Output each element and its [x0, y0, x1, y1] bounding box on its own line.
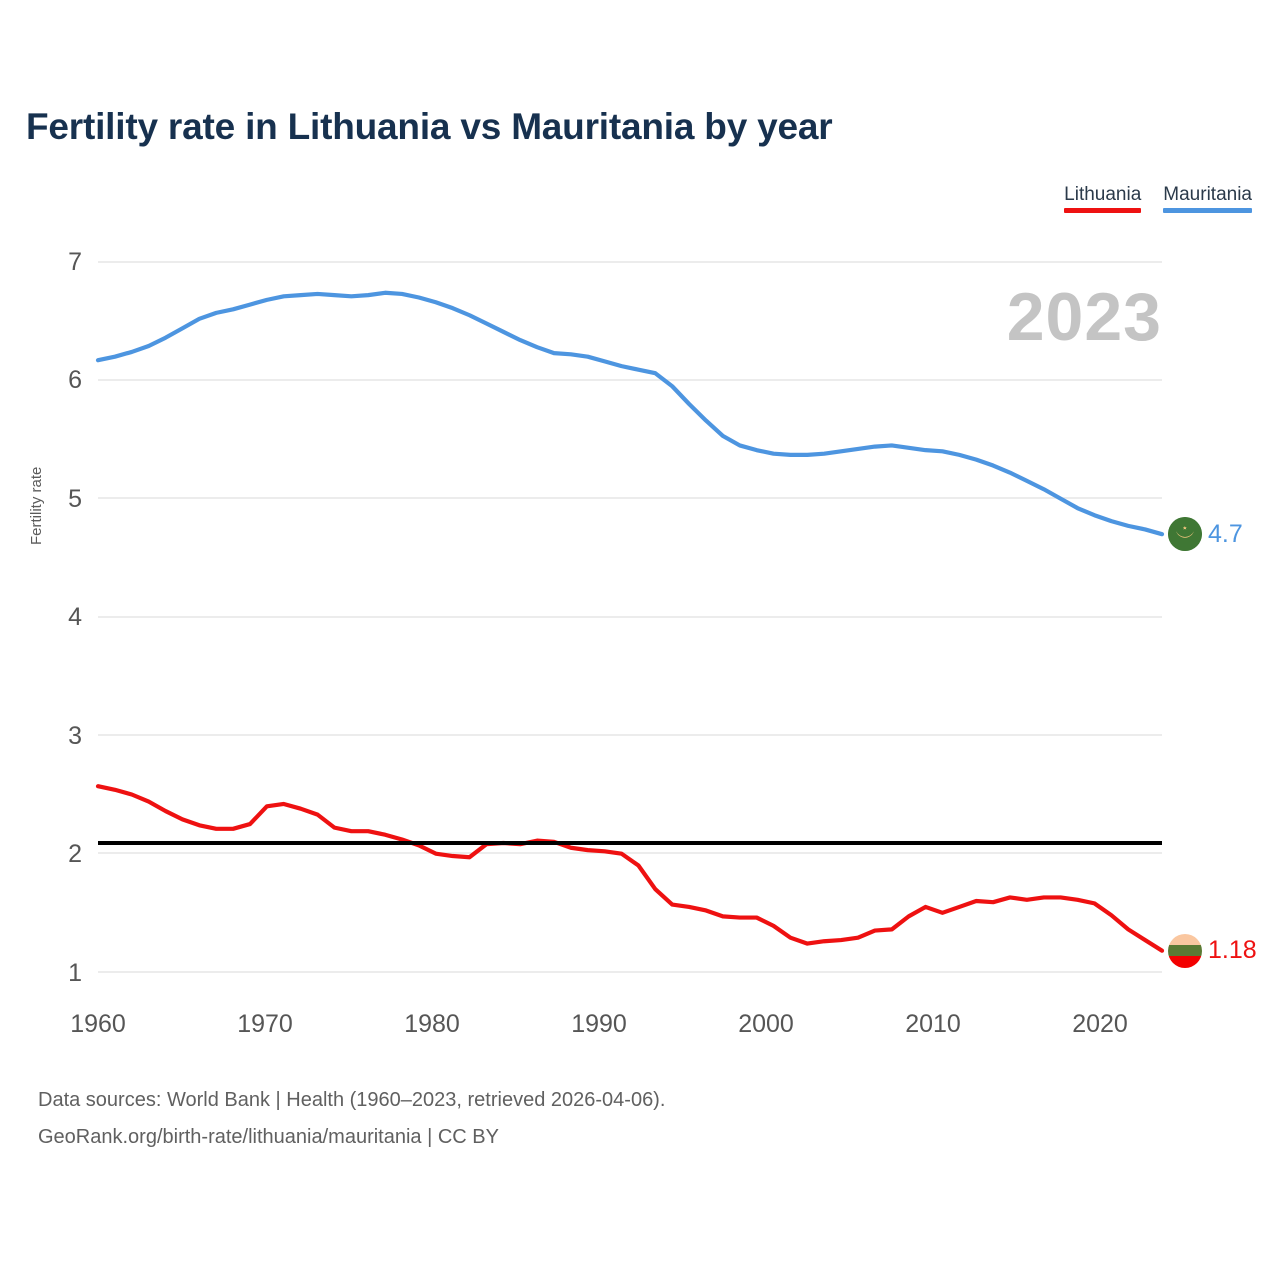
mauritania-crescent-star-icon	[1168, 517, 1202, 551]
lithuania-flag-icon	[1168, 934, 1202, 968]
flag-band-green	[1168, 945, 1202, 956]
chart-page: Fertility rate in Lithuania vs Mauritani…	[0, 0, 1280, 1280]
footer: Data sources: World Bank | Health (1960–…	[38, 1082, 665, 1156]
endpoint-mauritania: 4.7	[1168, 517, 1243, 551]
footer-data-sources: Data sources: World Bank | Health (1960–…	[38, 1082, 665, 1119]
mauritania-end-value: 4.7	[1208, 520, 1243, 549]
endpoint-lithuania: 1.18	[1168, 934, 1257, 968]
line-lithuania	[98, 786, 1162, 950]
lithuania-end-value: 1.18	[1208, 936, 1257, 965]
flag-band-yellow	[1168, 934, 1202, 945]
flag-band-red	[1168, 956, 1202, 967]
footer-attribution: GeoRank.org/birth-rate/lithuania/maurita…	[38, 1119, 665, 1156]
mauritania-flag-icon	[1168, 517, 1202, 551]
